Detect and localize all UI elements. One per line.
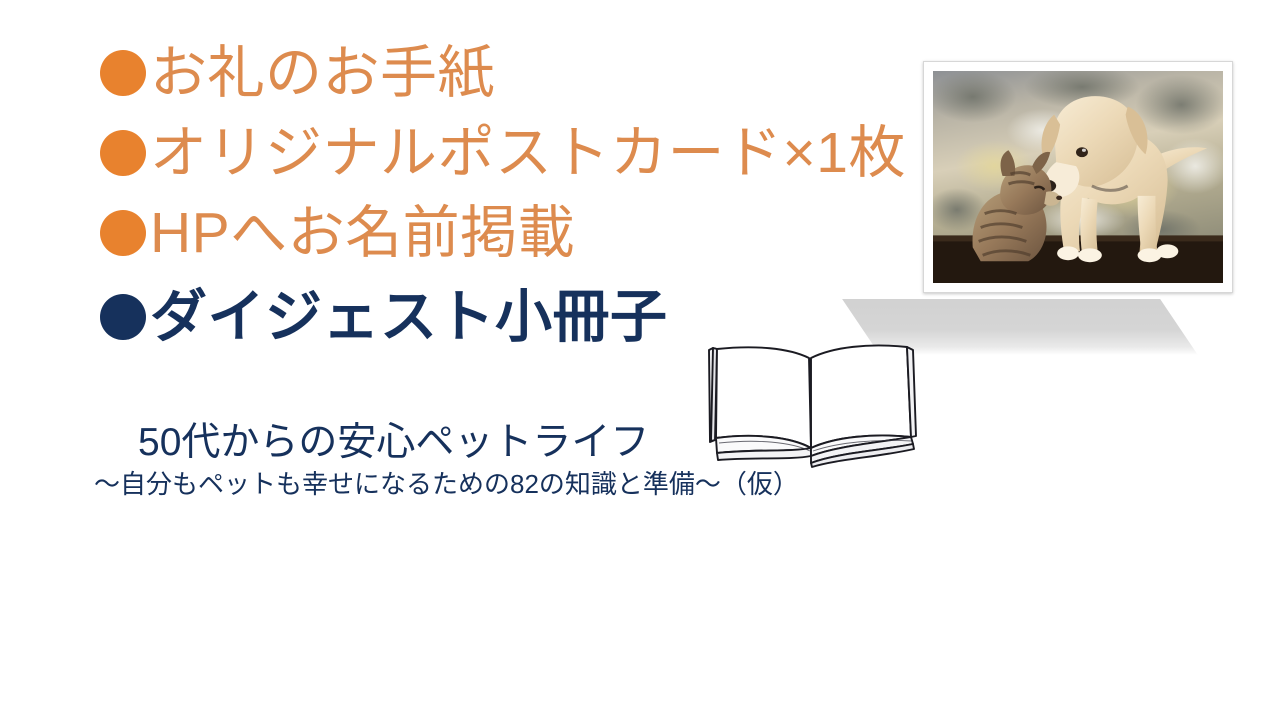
open-book-illustration xyxy=(697,336,929,468)
puppy-kitten-illustration-icon xyxy=(933,71,1223,283)
reward-bullet-list: お礼のお手紙 オリジナルポストカード×1枚 HPへお名前掲載 ダイジェスト小冊子 xyxy=(100,44,930,347)
photo-frame xyxy=(923,61,1233,293)
bullet-label: HPへお名前掲載 xyxy=(150,204,575,262)
slide-canvas: お礼のお手紙 オリジナルポストカード×1枚 HPへお名前掲載 ダイジェスト小冊子… xyxy=(0,0,1280,720)
bullet-label: オリジナルポストカード×1枚 xyxy=(150,124,906,182)
bullet-label: お礼のお手紙 xyxy=(150,44,495,102)
bullet-marker-circle-icon xyxy=(100,50,146,96)
bullet-marker-circle-icon xyxy=(100,294,146,340)
bullet-marker-circle-icon xyxy=(100,130,146,176)
bullet-label: ダイジェスト小冊子 xyxy=(150,288,668,346)
bullet-marker-circle-icon xyxy=(100,210,146,256)
booklet-subtitle: 〜自分もペットも幸せになるための82の知識と準備〜（仮） xyxy=(94,470,940,499)
photo-image xyxy=(933,71,1223,283)
bullet-item-name-on-homepage: HPへお名前掲載 xyxy=(100,204,930,262)
bullet-item-original-postcard: オリジナルポストカード×1枚 xyxy=(100,124,930,182)
open-book-icon xyxy=(697,336,929,468)
photo-dog-and-cat xyxy=(923,61,1233,293)
bullet-item-thank-you-letter: お礼のお手紙 xyxy=(100,44,930,102)
